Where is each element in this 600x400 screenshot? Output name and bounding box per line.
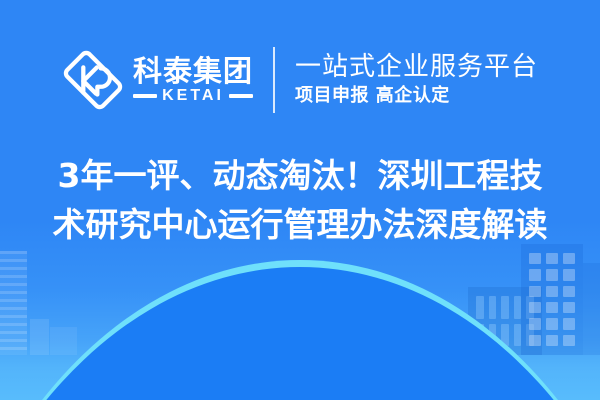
tagline-primary: 一站式企业服务平台 [295,54,538,81]
header-divider [273,47,275,113]
brand-name-cn: 科泰集团 [133,57,253,86]
bottom-arc [0,260,600,400]
arc-fill-band [0,267,600,400]
brand-wordmark: 科泰集团 KETAI [133,57,253,104]
wordmark-dash-right [229,94,253,98]
wordmark-dash-left [133,94,157,98]
brand-name-en-row: KETAI [133,88,253,104]
page-title-line-2: 术研究中心运行管理办法深度解读 [22,201,578,250]
promo-banner: 科泰集团 KETAI 一站式企业服务平台 项目申报 高企认定 3年一评、动态淘汰… [0,0,600,400]
page-title-line-1: 3年一评、动态淘汰！深圳工程技 [22,152,578,201]
brand-tagline: 一站式企业服务平台 项目申报 高企认定 [295,54,538,105]
tagline-secondary: 项目申报 高企认定 [295,87,538,106]
brand-name-en: KETAI [162,88,224,104]
banner-header: 科泰集团 KETAI 一站式企业服务平台 项目申报 高企认定 [0,42,600,118]
ketai-diamond-kp-logo-icon [62,49,124,111]
page-title: 3年一评、动态淘汰！深圳工程技 术研究中心运行管理办法深度解读 [0,152,600,250]
brand-logo[interactable]: 科泰集团 KETAI [62,49,253,111]
